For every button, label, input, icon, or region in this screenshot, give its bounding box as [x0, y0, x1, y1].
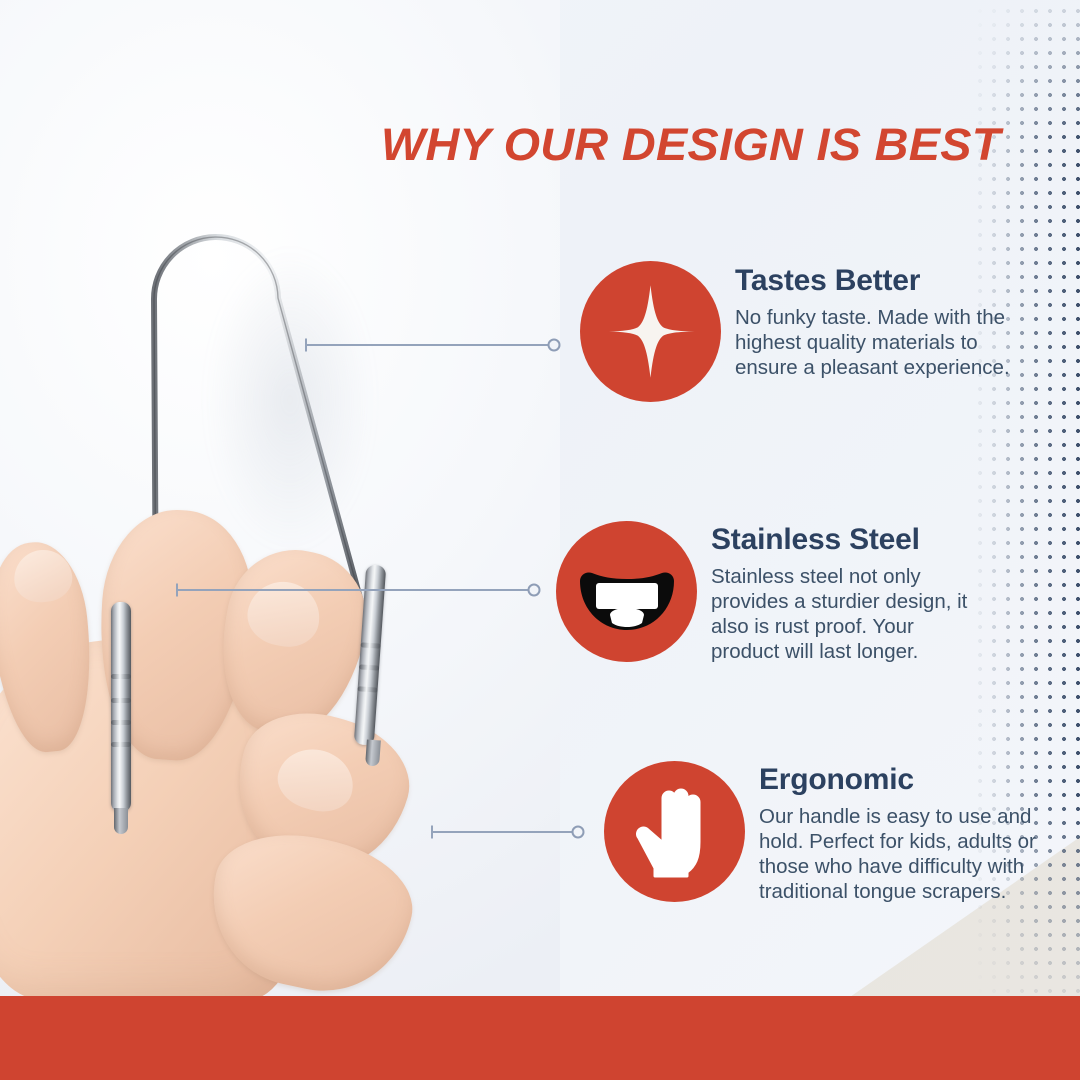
- feature-body: Stainless steel not only provides a stur…: [711, 564, 979, 664]
- feature-icon-badge: [556, 521, 697, 662]
- connector-endpoint-dot: [572, 826, 585, 839]
- feature-tastes-better: Tastes Better No funky taste. Made with …: [580, 261, 1020, 402]
- feature-body: Our handle is easy to use and hold. Perf…: [759, 804, 1059, 904]
- feature-icon-badge: [580, 261, 721, 402]
- page-title: WHY OUR DESIGN IS BEST: [381, 119, 1001, 171]
- smiling-mouth-icon: [572, 537, 682, 647]
- open-hand-icon: [625, 782, 725, 882]
- connector-stroke: [176, 589, 533, 591]
- connector-endpoint-dot: [548, 339, 561, 352]
- connector-line-tastes-better: [305, 338, 553, 352]
- feature-title: Stainless Steel: [711, 524, 979, 556]
- sparkle-icon: [598, 279, 703, 384]
- feature-text-block: Stainless Steel Stainless steel not only…: [697, 521, 979, 664]
- connector-line-stainless-steel: [176, 583, 533, 597]
- feature-title: Tastes Better: [735, 265, 1020, 297]
- connector-stroke: [305, 344, 553, 346]
- feature-icon-badge: [604, 761, 745, 902]
- feature-body: No funky taste. Made with the highest qu…: [735, 305, 1020, 380]
- handle-right-tip: [365, 740, 381, 767]
- handle-left-tip: [114, 808, 128, 834]
- bottom-accent-bar: [0, 996, 1080, 1080]
- feature-text-block: Ergonomic Our handle is easy to use and …: [745, 761, 1059, 904]
- connector-stroke: [431, 831, 577, 833]
- feature-title: Ergonomic: [759, 764, 1059, 796]
- feature-ergonomic: Ergonomic Our handle is easy to use and …: [604, 761, 1059, 904]
- feature-stainless-steel: Stainless Steel Stainless steel not only…: [556, 521, 979, 664]
- infographic-canvas: WHY OUR DESIGN IS BEST Tastes Better No …: [0, 0, 1080, 1080]
- connector-line-ergonomic: [431, 825, 577, 839]
- handle-left: [111, 602, 131, 812]
- feature-text-block: Tastes Better No funky taste. Made with …: [721, 261, 1020, 380]
- connector-endpoint-dot: [528, 584, 541, 597]
